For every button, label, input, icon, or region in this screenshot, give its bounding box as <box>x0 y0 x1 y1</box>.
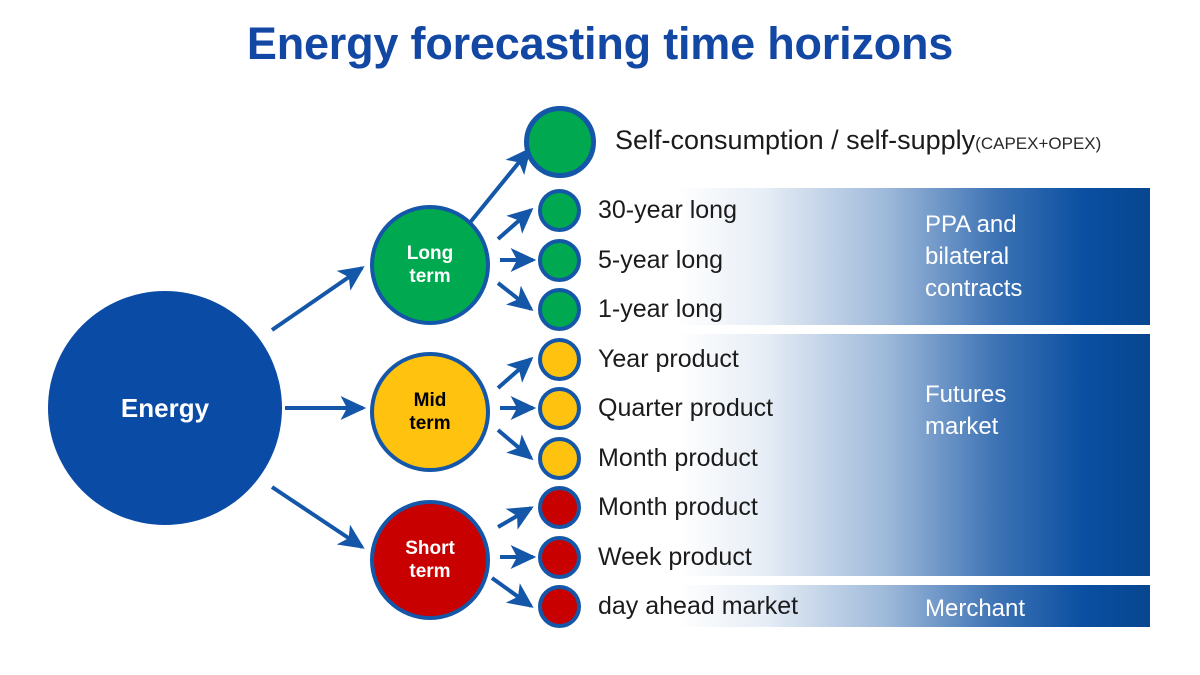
wire-long-to-1-year <box>498 283 531 309</box>
row-label-week-product: Week product <box>598 543 752 571</box>
wire-energy-to-short <box>272 487 362 547</box>
row-label-self-consumption-sub: (CAPEX+OPEX) <box>975 134 1101 153</box>
bullet-day-ahead-market[interactable] <box>538 585 581 628</box>
row-label-5-year-long: 5-year long <box>598 246 723 274</box>
bullet-5-year-long[interactable] <box>538 239 581 282</box>
row-label-self-consumption-text: Self-consumption / self-supply <box>615 125 975 155</box>
bullet-1-year-long[interactable] <box>538 288 581 331</box>
wire-energy-to-long <box>272 268 362 330</box>
bullet-quarter-product[interactable] <box>538 387 581 430</box>
row-label-1-year-long: 1-year long <box>598 295 723 323</box>
row-label-month-product-short: Month product <box>598 493 758 521</box>
bullet-year-product[interactable] <box>538 338 581 381</box>
node-energy-label: Energy <box>121 393 209 424</box>
row-label-day-ahead-market: day ahead market <box>598 592 798 620</box>
node-long-term[interactable]: Long term <box>370 205 490 325</box>
node-short-term-label: Short term <box>405 537 455 583</box>
wire-short-to-month-product <box>498 508 531 527</box>
row-label-30-year-long: 30-year long <box>598 196 737 224</box>
row-label-self-consumption: Self-consumption / self-supply(CAPEX+OPE… <box>615 126 1101 158</box>
diagram-canvas: Energy forecasting time horizons PPA and… <box>0 0 1200 675</box>
wire-short-to-day-ahead <box>492 578 531 606</box>
node-mid-term[interactable]: Mid term <box>370 352 490 472</box>
row-label-month-product-mid: Month product <box>598 444 758 472</box>
bullet-month-product-short[interactable] <box>538 486 581 529</box>
row-label-quarter-product: Quarter product <box>598 394 773 422</box>
bullet-30-year-long[interactable] <box>538 189 581 232</box>
wire-long-to-30-year <box>498 210 531 239</box>
wire-mid-to-year-product <box>498 359 531 388</box>
bullet-month-product-mid[interactable] <box>538 437 581 480</box>
node-short-term[interactable]: Short term <box>370 500 490 620</box>
bullet-self-consumption[interactable] <box>524 106 596 178</box>
wire-mid-to-month-product <box>498 430 531 458</box>
node-long-term-label: Long term <box>407 242 453 288</box>
row-label-year-product: Year product <box>598 345 739 373</box>
node-mid-term-label: Mid term <box>409 389 450 435</box>
node-energy[interactable]: Energy <box>48 291 282 525</box>
bullet-week-product[interactable] <box>538 536 581 579</box>
wire-long-to-self-consumption <box>468 150 529 225</box>
